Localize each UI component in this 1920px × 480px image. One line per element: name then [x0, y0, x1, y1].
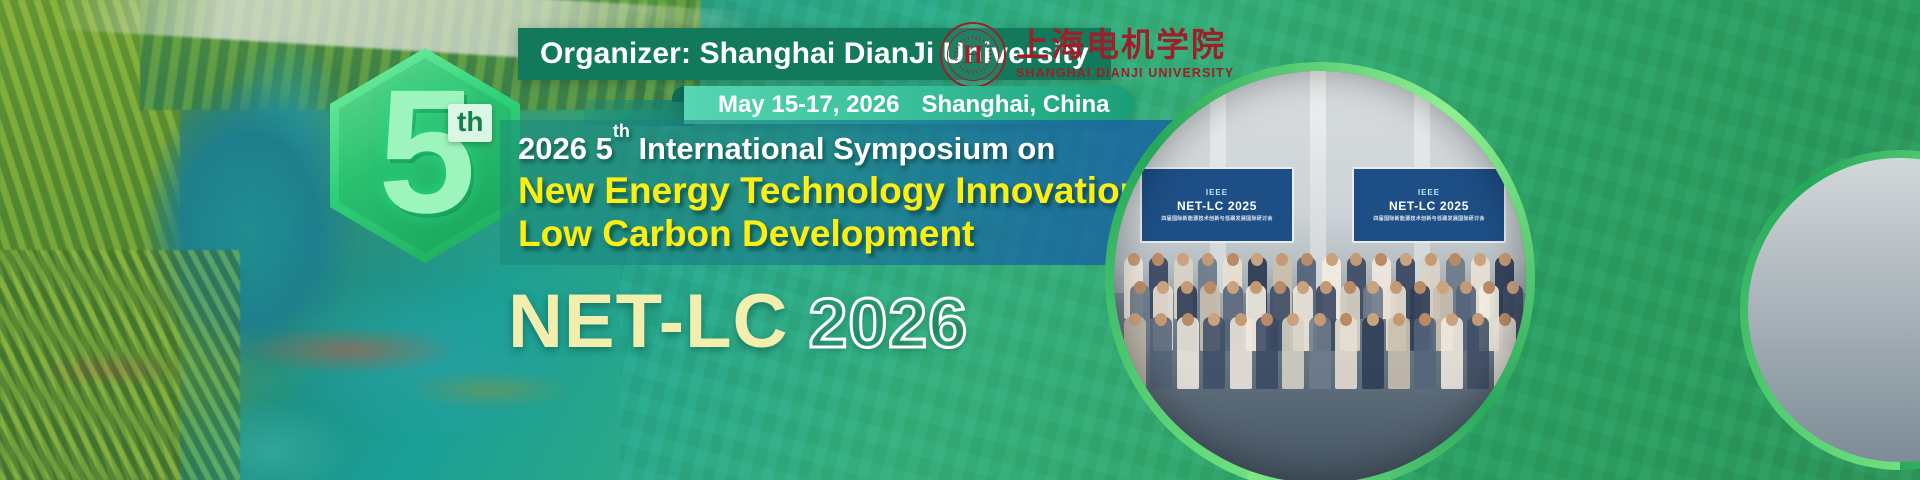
conference-location: Shanghai, China — [921, 91, 1109, 119]
attendee-head — [1446, 313, 1458, 326]
vegetation-bottom-left — [0, 250, 240, 480]
stage-screen-left: IEEE NET-LC 2025 四届国际新能源技术创新与低碳发展国际研讨会 — [1140, 167, 1294, 243]
attendee-head — [1129, 313, 1141, 326]
attendee-head — [1276, 253, 1288, 266]
attendee-figure — [1414, 317, 1436, 389]
wordmark-acronym: NET-LC — [508, 278, 788, 365]
attendee-head — [1393, 313, 1405, 326]
attendee-head — [1326, 253, 1338, 266]
attendee-head — [1297, 281, 1309, 294]
university-name-cn: 上海电机学院 — [1016, 30, 1234, 64]
screen-ieee-label: IEEE — [1418, 188, 1440, 197]
attendee-head — [1274, 281, 1286, 294]
title-line-1: 2026 5th International Symposium on — [518, 131, 1055, 167]
attendee-head — [1414, 281, 1426, 294]
title-line-3: Low Carbon Development — [518, 213, 974, 255]
attendee-head — [1134, 281, 1146, 294]
attendee-head — [1400, 253, 1412, 266]
attendee-head — [1227, 253, 1239, 266]
edition-ordinal: th — [448, 104, 492, 142]
event-wordmark: NET-LC 2026 — [508, 278, 968, 365]
attendee-head — [1235, 313, 1247, 326]
attendee-head — [1499, 313, 1511, 326]
attendee-figure — [1309, 317, 1331, 389]
attendee-head — [1128, 253, 1140, 266]
attendee-head — [1499, 253, 1511, 266]
date-location-ribbon: May 15-17, 2026 Shanghai, China — [684, 86, 1135, 124]
title-line-1-prefix: 2026 5 — [518, 131, 613, 166]
attendee-figure — [1467, 317, 1489, 389]
attendee-head — [1367, 281, 1379, 294]
screen-ieee-label: IEEE — [1206, 188, 1228, 197]
screen-event-name: NET-LC 2025 — [1177, 199, 1257, 213]
screen-event-name: NET-LC 2025 — [1389, 199, 1469, 213]
attendee-figure — [1230, 317, 1252, 389]
title-line-1-ordinal: th — [613, 121, 630, 141]
attendee-figure — [1177, 317, 1199, 389]
title-line-3-highlight: Low Carbon Development — [518, 213, 974, 254]
attendee-head — [1367, 313, 1379, 326]
conference-dates: May 15-17, 2026 — [718, 91, 899, 119]
wordmark-year: 2026 — [808, 283, 968, 363]
attendee-head — [1474, 253, 1486, 266]
attendee-head — [1344, 281, 1356, 294]
edition-badge: 5 th — [330, 48, 520, 263]
attendee-figure — [1150, 317, 1172, 389]
photo2-inner — [1748, 158, 1920, 462]
conference-banner: 5 th Organizer: Shanghai DianJi Universi… — [0, 0, 1920, 480]
attendee-figure — [1256, 317, 1278, 389]
attendee-figure — [1388, 317, 1410, 389]
group-photo-circle-partial — [1740, 150, 1920, 470]
photo-inner: IEEE NET-LC 2025 四届国际新能源技术创新与低碳发展国际研讨会 I… — [1114, 71, 1526, 480]
university-seal-icon: H — [940, 22, 1006, 88]
attendee-figure — [1335, 317, 1357, 389]
screen-subtitle: 四届国际新能源技术创新与低碳发展国际研讨会 — [1373, 215, 1484, 222]
attendee-head — [1182, 313, 1194, 326]
attendee-head — [1177, 253, 1189, 266]
edition-number: 5 — [330, 54, 520, 254]
attendee-figure — [1494, 317, 1516, 389]
attendee-figure — [1282, 317, 1304, 389]
attendee-head — [1261, 313, 1273, 326]
group-photo-circle: IEEE NET-LC 2025 四届国际新能源技术创新与低碳发展国际研讨会 I… — [1105, 62, 1535, 480]
attendee-head — [1202, 253, 1214, 266]
attendee-head — [1314, 313, 1326, 326]
attendee-head — [1375, 253, 1387, 266]
title-line-1-suffix: International Symposium on — [630, 131, 1055, 166]
title-line-2-highlight: New Energy Technology Innovation — [518, 170, 1142, 211]
screen-subtitle: 四届国际新能源技术创新与低碳发展国际研讨会 — [1161, 215, 1272, 222]
attendee-head — [1181, 281, 1193, 294]
attendee-head — [1507, 281, 1519, 294]
attendee-figure — [1124, 317, 1146, 389]
attendee-figure — [1203, 317, 1225, 389]
attendee-head — [1425, 253, 1437, 266]
seal-letter: H — [963, 42, 983, 68]
attendee-figure — [1362, 317, 1384, 389]
stage-screen-right: IEEE NET-LC 2025 四届国际新能源技术创新与低碳发展国际研讨会 — [1352, 167, 1506, 243]
attendee-head — [1204, 281, 1216, 294]
attendee-head — [1437, 281, 1449, 294]
attendee-head — [1301, 253, 1313, 266]
attendee-figure — [1441, 317, 1463, 389]
